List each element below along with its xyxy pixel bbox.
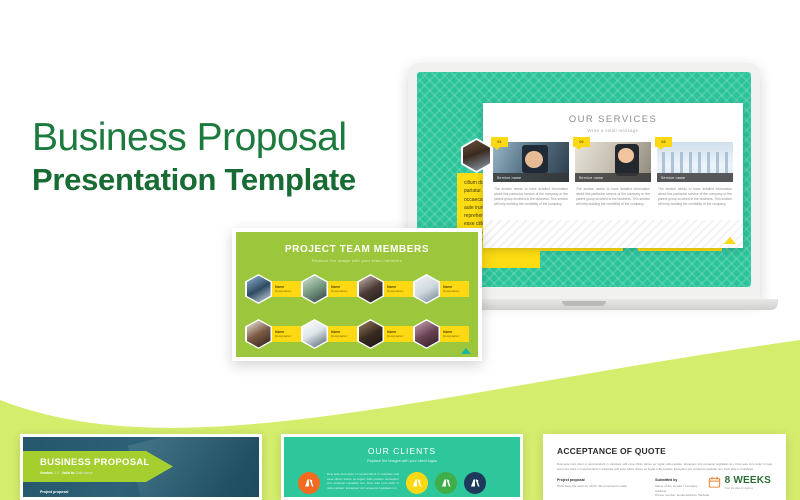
service-card: 02 Service name The section needs to hav…	[575, 142, 651, 207]
member-label: NameDesignation	[324, 281, 357, 297]
member-avatar	[413, 319, 440, 349]
quote-paragraph: Duis aute irure dolor in reprehenderit i…	[557, 462, 772, 471]
service-card: 03 Service name The section needs to hav…	[657, 142, 733, 207]
member-label: NameDesignation	[380, 326, 413, 342]
member-designation: Designation	[331, 289, 357, 293]
member-avatar	[357, 274, 384, 304]
bp-footer: Project proposal	[40, 490, 68, 494]
team-member: NameDesignation	[245, 319, 301, 349]
member-label: NameDesignation	[268, 281, 301, 297]
team-member: NameDesignation	[357, 319, 413, 349]
service-photo: Service name	[493, 142, 569, 182]
member-avatar	[245, 319, 272, 349]
service-body: The section needs to have detailed infor…	[657, 182, 733, 207]
client-logo-3[interactable]	[435, 472, 457, 494]
bp-banner: BUSINESS PROPOSAL Version: 1.0 Valid to:…	[23, 451, 173, 482]
services-title: OUR SERVICES	[483, 114, 743, 125]
aq-canvas: ACCEPTANCE OF QUOTE Duis aute irure dolo…	[546, 437, 783, 497]
member-label: NameDesignation	[436, 281, 469, 297]
member-avatar	[413, 274, 440, 304]
page-title: Business Proposal Presentation Template	[32, 118, 356, 197]
slide-our-clients[interactable]: OUR CLIENTS Replace the images with your…	[281, 434, 523, 500]
service-photo: Service name	[575, 142, 651, 182]
bp-version-value: 1.0	[54, 471, 59, 475]
bp-title: BUSINESS PROPOSAL	[40, 457, 173, 468]
team-member-grid: NameDesignationNameDesignationNameDesign…	[236, 263, 478, 349]
next-arrow-icon[interactable]	[724, 237, 736, 244]
quote-col2-heading: Submitted by	[655, 478, 709, 482]
quote-col2-text: Name of the sender / company Address Pho…	[655, 484, 709, 498]
service-photo-caption: Service name	[493, 173, 569, 182]
client-mark-icon	[411, 477, 423, 489]
service-number-tag: 02	[573, 137, 590, 147]
project-team-slide[interactable]: PROJECT TEAM MEMBERS Replace the image w…	[232, 228, 482, 361]
quote-duration-badge: 8 WEEKS from the date of signing	[708, 475, 771, 490]
services-card-row: 01 Service name The section needs to hav…	[483, 133, 743, 207]
team-member: NameDesignation	[301, 319, 357, 349]
client-logo-1[interactable]	[298, 472, 320, 494]
team-member: NameDesignation	[413, 274, 469, 304]
service-body: The section needs to have detailed infor…	[493, 182, 569, 207]
bottom-slide-strip: BUSINESS PROPOSAL Version: 1.0 Valid to:…	[0, 434, 800, 500]
service-body: The section needs to have detailed infor…	[575, 182, 651, 207]
quote-col1-text: Write here the work for which this propo…	[557, 484, 627, 489]
bp-version-label: Version:	[40, 471, 53, 475]
clients-body-text: Duis aute irure dolor in reprehenderit i…	[327, 472, 399, 490]
member-avatar	[357, 319, 384, 349]
bp-canvas: BUSINESS PROPOSAL Version: 1.0 Valid to:…	[23, 437, 259, 497]
quote-weeks-value: 8 WEEKS	[725, 475, 771, 486]
quote-weeks-sub: from the date of signing	[725, 487, 771, 490]
client-mark-icon	[469, 477, 481, 489]
team-member: NameDesignation	[357, 274, 413, 304]
member-label: NameDesignation	[324, 326, 357, 342]
team-member: NameDesignation	[301, 274, 357, 304]
quote-col-project: Project proposal Write here the work for…	[557, 478, 627, 498]
clients-logo-row: Duis aute irure dolor in reprehenderit i…	[284, 463, 520, 494]
clients-title: OUR CLIENTS	[284, 437, 520, 456]
member-label: NameDesignation	[268, 326, 301, 342]
bp-meta: Version: 1.0 Valid to: Date name	[40, 471, 173, 475]
service-number-tag: 01	[491, 137, 508, 147]
team-title: PROJECT TEAM MEMBERS	[236, 232, 478, 255]
member-designation: Designation	[331, 334, 357, 338]
card-texture	[483, 220, 743, 248]
quote-col-submitted: Submitted by Name of the sender / compan…	[655, 478, 709, 498]
client-logo-4[interactable]	[464, 472, 486, 494]
slide-acceptance-of-quote[interactable]: ACCEPTANCE OF QUOTE Duis aute irure dolo…	[543, 434, 786, 500]
service-photo: Service name	[657, 142, 733, 182]
member-designation: Designation	[443, 289, 469, 293]
team-member: NameDesignation	[413, 319, 469, 349]
member-designation: Designation	[275, 289, 301, 293]
bp-valid-label: Valid to:	[62, 471, 75, 475]
slide-business-proposal[interactable]: BUSINESS PROPOSAL Version: 1.0 Valid to:…	[20, 434, 262, 500]
member-label: NameDesignation	[380, 281, 413, 297]
member-label: NameDesignation	[436, 326, 469, 342]
member-designation: Designation	[275, 334, 301, 338]
member-avatar	[301, 319, 328, 349]
headline-primary: Business Proposal	[32, 118, 356, 157]
team-member: NameDesignation	[245, 274, 301, 304]
headline-secondary: Presentation Template	[32, 164, 356, 197]
bp-valid-value: Date name	[76, 471, 93, 475]
calendar-icon	[708, 476, 721, 489]
member-designation: Designation	[443, 334, 469, 338]
quote-col1-heading: Project proposal	[557, 478, 627, 482]
member-avatar	[245, 274, 272, 304]
client-mark-icon	[440, 477, 452, 489]
quote-title: ACCEPTANCE OF QUOTE	[557, 446, 772, 456]
oc-canvas: OUR CLIENTS Replace the images with your…	[284, 437, 520, 497]
next-arrow-icon[interactable]	[461, 348, 471, 354]
team-slide-canvas: PROJECT TEAM MEMBERS Replace the image w…	[236, 232, 478, 357]
service-card: 01 Service name The section needs to hav…	[493, 142, 569, 207]
laptop-trackpad-notch	[562, 301, 606, 306]
service-photo-caption: Service name	[657, 173, 733, 182]
member-designation: Designation	[387, 289, 413, 293]
member-avatar	[301, 274, 328, 304]
service-photo-caption: Service name	[575, 173, 651, 182]
client-logo-2[interactable]	[406, 472, 428, 494]
service-number-tag: 03	[655, 137, 672, 147]
our-services-card: OUR SERVICES Write a small message 01 Se…	[483, 103, 743, 248]
member-designation: Designation	[387, 334, 413, 338]
client-mark-icon	[303, 477, 315, 489]
